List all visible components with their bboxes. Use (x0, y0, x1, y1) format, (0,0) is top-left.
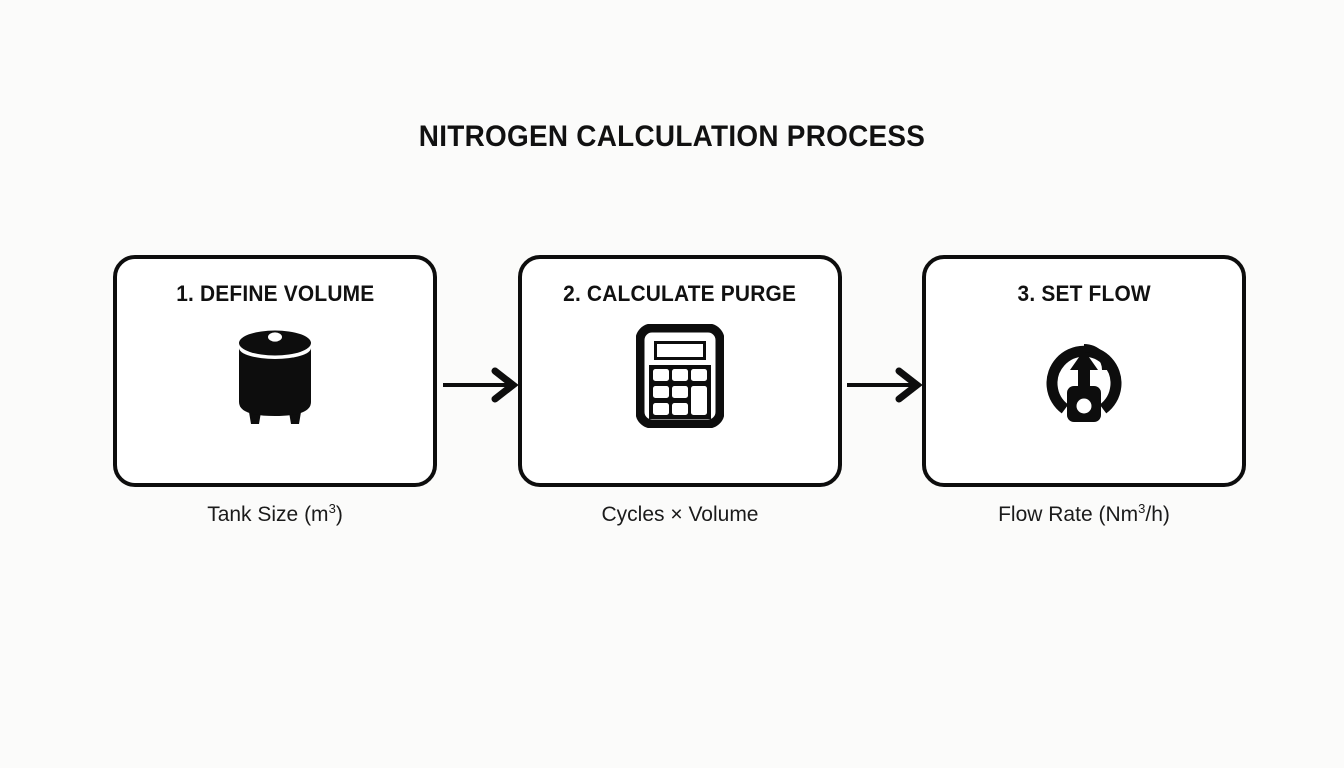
step-2-box[interactable]: 2. CALCULATE PURGE (518, 255, 842, 487)
step-1-box[interactable]: 1. DEFINE VOLUME (113, 255, 437, 487)
arrow-step1-to-step2 (443, 365, 527, 405)
calculator-icon (625, 321, 735, 431)
step-1-heading: 1. DEFINE VOLUME (176, 281, 374, 307)
step-3-caption: Flow Rate (Nm3/h) (922, 503, 1246, 527)
step-1-caption-prefix: Tank Size (m (207, 503, 328, 526)
step-3-caption-prefix: Flow Rate (Nm (998, 503, 1138, 526)
step-1-caption: Tank Size (m3) (113, 503, 437, 527)
flow-gauge-icon (1029, 321, 1139, 431)
diagram-canvas: NITROGEN CALCULATION PROCESS 1. DEFINE V… (0, 0, 1344, 768)
step-2-caption: Cycles × Volume (518, 503, 842, 527)
step-2-heading: 2. CALCULATE PURGE (564, 281, 797, 307)
process-step-3[interactable]: 3. SET FLOW Flow Rate (Nm3/h) (922, 255, 1246, 527)
step-2-caption-prefix: Cycles × Volume (602, 503, 759, 526)
process-steps-row: 1. DEFINE VOLUME (113, 255, 1246, 535)
step-3-box[interactable]: 3. SET FLOW (922, 255, 1246, 487)
arrow-step2-to-step3 (847, 365, 931, 405)
step-3-caption-suffix: /h) (1145, 503, 1170, 526)
tank-icon (220, 321, 330, 431)
step-1-caption-superscript: 3 (329, 501, 336, 516)
process-step-2[interactable]: 2. CALCULATE PURGE (518, 255, 842, 527)
step-3-heading: 3. SET FLOW (1017, 281, 1150, 307)
process-step-1[interactable]: 1. DEFINE VOLUME (113, 255, 437, 527)
step-1-caption-suffix: ) (336, 503, 343, 526)
page-title: NITROGEN CALCULATION PROCESS (47, 120, 1297, 154)
